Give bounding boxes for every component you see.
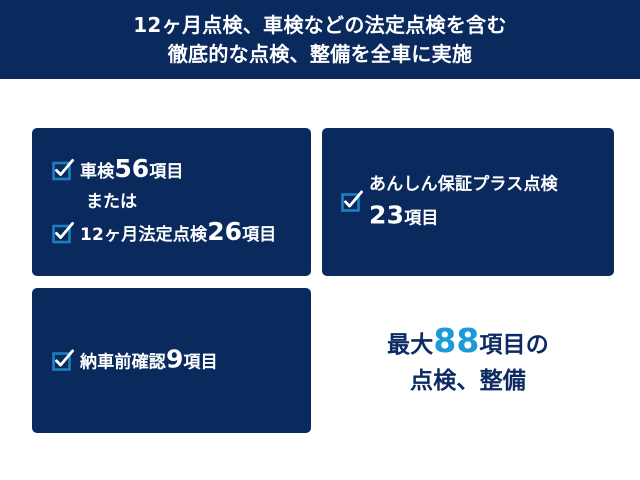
summary-prefix: 最大 — [387, 332, 433, 358]
inspection-shaken-number: 56 — [114, 154, 149, 183]
header-title-line-2: 徹底的な点検、整備を全車に実施 — [168, 40, 473, 69]
header-title-line-1: 12ヶ月点検、車検などの法定点検を含む — [133, 11, 507, 40]
predelivery-row: 納車前確認9項目 — [52, 346, 218, 375]
inspection-row-12month-text: 12ヶ月法定点検26項目 — [80, 219, 276, 248]
card-inspection-items: 車検56項目 または 12ヶ月法定点検26項目 — [32, 128, 311, 276]
inspection-row-or: または — [52, 189, 276, 215]
predelivery-prefix: 納車前確認 — [80, 352, 166, 372]
warranty-text-block: あんしん保証プラス点検 23項目 — [369, 174, 558, 231]
inspection-12month-prefix: 12ヶ月法定点検 — [80, 225, 207, 245]
predelivery-row-text: 納車前確認9項目 — [80, 346, 218, 375]
inspection-shaken-prefix: 車検 — [80, 162, 114, 182]
checkbox-checked-icon — [52, 161, 71, 180]
card-predelivery-check: 納車前確認9項目 — [32, 288, 311, 433]
warranty-count-number: 23 — [369, 201, 404, 230]
summary-line-1: 最大88項目の — [387, 325, 549, 361]
warranty-count-suffix: 項目 — [404, 209, 438, 229]
summary-total-items: 最大88項目の 点検、整備 — [322, 288, 614, 433]
inspection-12month-suffix: 項目 — [242, 225, 276, 245]
inspection-or-label: または — [86, 189, 137, 215]
inspection-row-list: 車検56項目 または 12ヶ月法定点検26項目 — [52, 156, 276, 248]
inspection-row-shaken-text: 車検56項目 — [80, 156, 184, 185]
inspection-row-12month: 12ヶ月法定点検26項目 — [52, 219, 276, 248]
warranty-line-2: 23項目 — [369, 204, 558, 231]
inspection-row-shaken: 車検56項目 — [52, 156, 276, 185]
checkbox-checked-icon — [52, 224, 71, 243]
warranty-row: あんしん保証プラス点検 23項目 — [341, 174, 558, 231]
summary-suffix: 項目の — [479, 332, 549, 358]
inspection-shaken-suffix: 項目 — [149, 162, 183, 182]
predelivery-suffix: 項目 — [183, 352, 217, 372]
warranty-line-1: あんしん保証プラス点検 — [369, 174, 558, 197]
checkbox-checked-icon — [52, 351, 71, 370]
header-band: 12ヶ月点検、車検などの法定点検を含む 徹底的な点検、整備を全車に実施 — [0, 0, 640, 79]
predelivery-number: 9 — [166, 344, 183, 373]
checkbox-checked-icon — [341, 193, 360, 212]
inspection-12month-number: 26 — [207, 217, 242, 246]
summary-total-number: 88 — [433, 321, 479, 360]
summary-line-2: 点検、整備 — [410, 366, 526, 397]
predelivery-row-list: 納車前確認9項目 — [52, 346, 218, 375]
card-warranty-plus-inspection: あんしん保証プラス点検 23項目 — [322, 128, 614, 276]
